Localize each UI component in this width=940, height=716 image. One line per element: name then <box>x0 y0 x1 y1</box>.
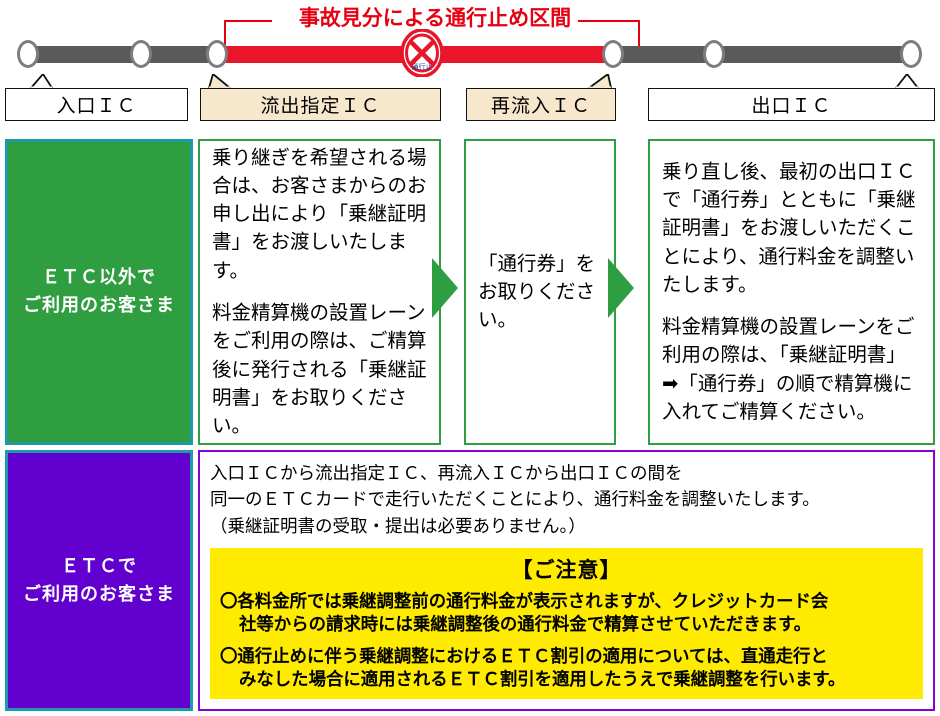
ic-label-entrance-ic: 入口ＩＣ <box>5 88 188 121</box>
flow-arrow-2 <box>608 258 634 318</box>
ic-label-exit-ic: 出口ＩＣ <box>648 88 935 121</box>
re-entry-node <box>602 40 624 68</box>
notice-item-2: 〇通行止めに伴う乗継調整におけるＥＴＣ割引の適用については、直通走行と みなした… <box>220 645 913 691</box>
non-etc-re-entry-cell: 「通行券」を お取りください。 <box>464 139 616 445</box>
non-etc-designated-exit-para2: 料金精算機の設置レーンをご利用の際は、ご精算後に発行される「乗継証明書」をお取り… <box>212 299 427 440</box>
notice-item-1: 〇各料金所では乗継調整前の通行料金が表示されますが、クレジットカード会 社等から… <box>220 590 913 636</box>
closure-section-label: 事故見分による通行止め区間 <box>270 2 600 32</box>
exit-ic-node <box>900 40 922 68</box>
etc-intro-text: 入口ＩＣから流出指定ＩＣ、再流入ＩＣから出口ＩＣの間を 同一のＥＴＣカードで走行… <box>210 460 923 539</box>
flow-arrow-1 <box>432 258 458 318</box>
non-etc-exit-para1: 乗り直し後、最初の出口ＩＣで「通行券」とともに「乗継証明書」をお渡しいただくこと… <box>662 158 921 299</box>
row-header-non-etc: ＥＴＣ以外で ご利用のお客さま <box>5 139 193 445</box>
ic-label-designated-exit-ic: 流出指定ＩＣ <box>200 88 441 121</box>
notice-item-2-line2: みなした場合に適用されるＥＴＣ割引を適用したうえで乗継調整を行います。 <box>220 668 913 691</box>
plain-node-1 <box>130 40 152 68</box>
notice-item-1-line1: 〇各料金所では乗継調整前の通行料金が表示されますが、クレジットカード会 <box>220 590 913 613</box>
etc-intro-line3: （乗継証明書の受取・提出は必要ありません。） <box>210 513 923 539</box>
callout-tail-designated-exit-ic <box>208 74 238 88</box>
callout-tail-entrance-ic <box>30 74 60 88</box>
notice-title: 【ご注意】 <box>220 554 913 584</box>
non-etc-re-entry-line2: お取りください。 <box>478 278 602 335</box>
svg-text:通行止: 通行止 <box>412 62 433 71</box>
callout-tail-re-entry-ic <box>583 74 613 88</box>
entrance-ic-node <box>17 40 39 68</box>
etc-intro-line1: 入口ＩＣから流出指定ＩＣ、再流入ＩＣから出口ＩＣの間を <box>210 460 923 486</box>
closure-bracket-left <box>224 20 272 22</box>
plain-node-2 <box>703 40 725 68</box>
row-header-non-etc-line2: ご利用のお客さま <box>23 292 175 320</box>
road-segment-open-left <box>30 46 222 63</box>
row-header-etc-line1: ＥＴＣで <box>23 553 175 581</box>
notice-box: 【ご注意】 〇各料金所では乗継調整前の通行料金が表示されますが、クレジットカード… <box>210 548 923 699</box>
notice-item-1-line2: 社等からの請求時には乗継調整後の通行料金で精算させていただきます。 <box>220 613 913 636</box>
non-etc-exit-cell: 乗り直し後、最初の出口ＩＣで「通行券」とともに「乗継証明書」をお渡しいただくこと… <box>648 139 935 445</box>
road-segment-open-right <box>612 46 914 63</box>
road-closed-sign-icon: 通行止 <box>400 29 444 77</box>
etc-intro-line2: 同一のＥＴＣカードで走行いただくことにより、通行料金を調整いたします。 <box>210 486 923 512</box>
non-etc-exit-para2: 料金精算機の設置レーンをご利用の際は、「乗継証明書」➡「通行券」の順で精算機に入… <box>662 313 921 426</box>
row-header-non-etc-line1: ＥＴＣ以外で <box>23 264 175 292</box>
non-etc-designated-exit-cell: 乗り継ぎを希望される場合は、お客さまからのお申し出により「乗継証明書」をお渡しい… <box>198 139 441 445</box>
designated-exit-node <box>206 40 228 68</box>
ic-label-re-entry-ic: 再流入ＩＣ <box>466 88 616 121</box>
non-etc-re-entry-line1: 「通行券」を <box>478 250 602 278</box>
row-header-etc-line2: ご利用のお客さま <box>23 581 175 609</box>
non-etc-designated-exit-para1: 乗り継ぎを希望される場合は、お客さまからのお申し出により「乗継証明書」をお渡しい… <box>212 144 427 285</box>
road-diagram: 事故見分による通行止め区間 通行止 <box>0 0 940 130</box>
notice-item-2-line1: 〇通行止めに伴う乗継調整におけるＥＴＣ割引の適用については、直通走行と <box>220 645 913 668</box>
row-header-etc: ＥＴＣで ご利用のお客さま <box>5 450 193 711</box>
callout-tail-exit-ic <box>893 74 923 88</box>
etc-content-cell: 入口ＩＣから流出指定ＩＣ、再流入ＩＣから出口ＩＣの間を 同一のＥＴＣカードで走行… <box>198 450 935 711</box>
